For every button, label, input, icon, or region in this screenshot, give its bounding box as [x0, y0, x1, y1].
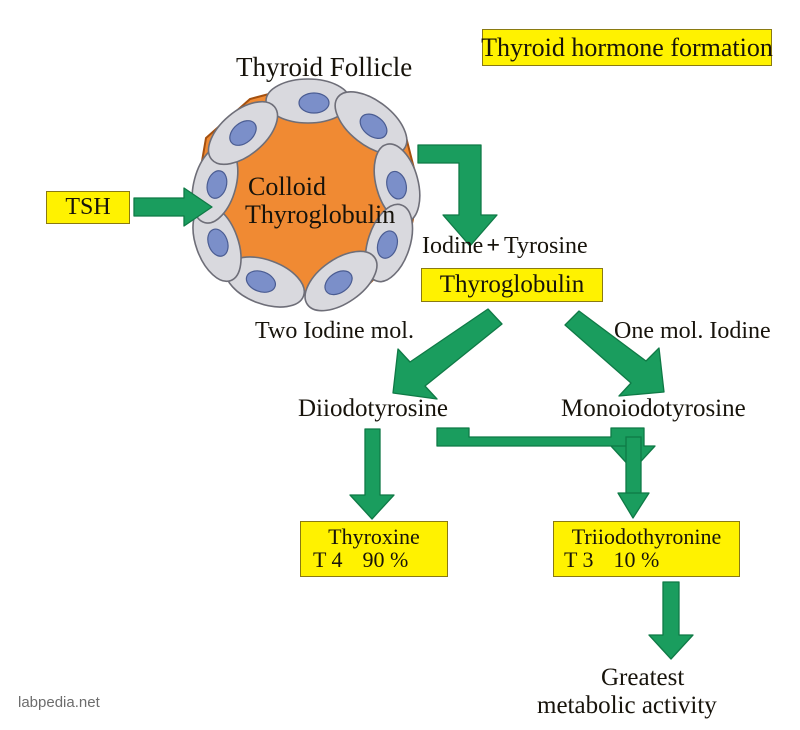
tyrosine-label: Tyrosine	[504, 233, 588, 259]
cell-nucleus	[299, 93, 329, 113]
diagram-canvas: Thyroid hormone formation Thyroid Follic…	[0, 0, 800, 730]
node-tsh: TSH	[46, 191, 130, 224]
thyroxine-percent: 90 %	[343, 547, 409, 572]
arrow-dit-to-thyroxine	[350, 429, 394, 519]
triiodothyronine-name: Triiodothyronine	[554, 525, 739, 548]
node-thyroxine: Thyroxine T 490 %	[300, 521, 448, 577]
node-tsh-label: TSH	[65, 195, 110, 220]
node-thyroglobulin-label: Thyroglobulin	[440, 272, 584, 298]
plus-sign: +	[483, 233, 504, 259]
node-diiodotyrosine: Diiodotyrosine	[298, 395, 448, 423]
figure-title-box: Thyroid hormone formation	[482, 29, 772, 66]
iodine-label: Iodine	[422, 233, 483, 259]
arrow-follicle-to-iodine	[418, 145, 497, 246]
edge-label-two-iodine: Two Iodine mol.	[255, 318, 414, 345]
colloid-label: Colloid	[248, 172, 326, 202]
source-watermark: labpedia.net	[18, 694, 100, 711]
connector-dit-mit-to-triiodothyronine	[437, 428, 655, 518]
triiodothyronine-detail: T 310 %	[554, 548, 739, 571]
outcome-line-1: Greatest	[601, 664, 684, 692]
node-thyroglobulin: Thyroglobulin	[421, 268, 603, 302]
thyroxine-abbrev: T 4	[313, 547, 343, 572]
triiodothyronine-abbrev: T 3	[564, 547, 594, 572]
thyroid-follicle-label: Thyroid Follicle	[236, 52, 412, 83]
edge-label-one-iodine: One mol. Iodine	[614, 318, 771, 345]
triiodothyronine-percent: 10 %	[594, 547, 660, 572]
colloid-thyroglobulin-label: Thyroglobulin	[245, 200, 395, 230]
node-monoiodotyrosine: Monoiodotyrosine	[561, 395, 746, 423]
node-iodine-plus-tyrosine: Iodine+Tyrosine	[422, 233, 588, 260]
outcome-line-2: metabolic activity	[537, 692, 717, 720]
arrow-t3-to-outcome	[649, 582, 693, 659]
figure-title: Thyroid hormone formation	[481, 34, 773, 61]
thyroxine-name: Thyroxine	[301, 525, 447, 548]
diagram-artwork	[0, 0, 800, 730]
node-triiodothyronine: Triiodothyronine T 310 %	[553, 521, 740, 577]
thyroxine-detail: T 490 %	[301, 548, 447, 571]
